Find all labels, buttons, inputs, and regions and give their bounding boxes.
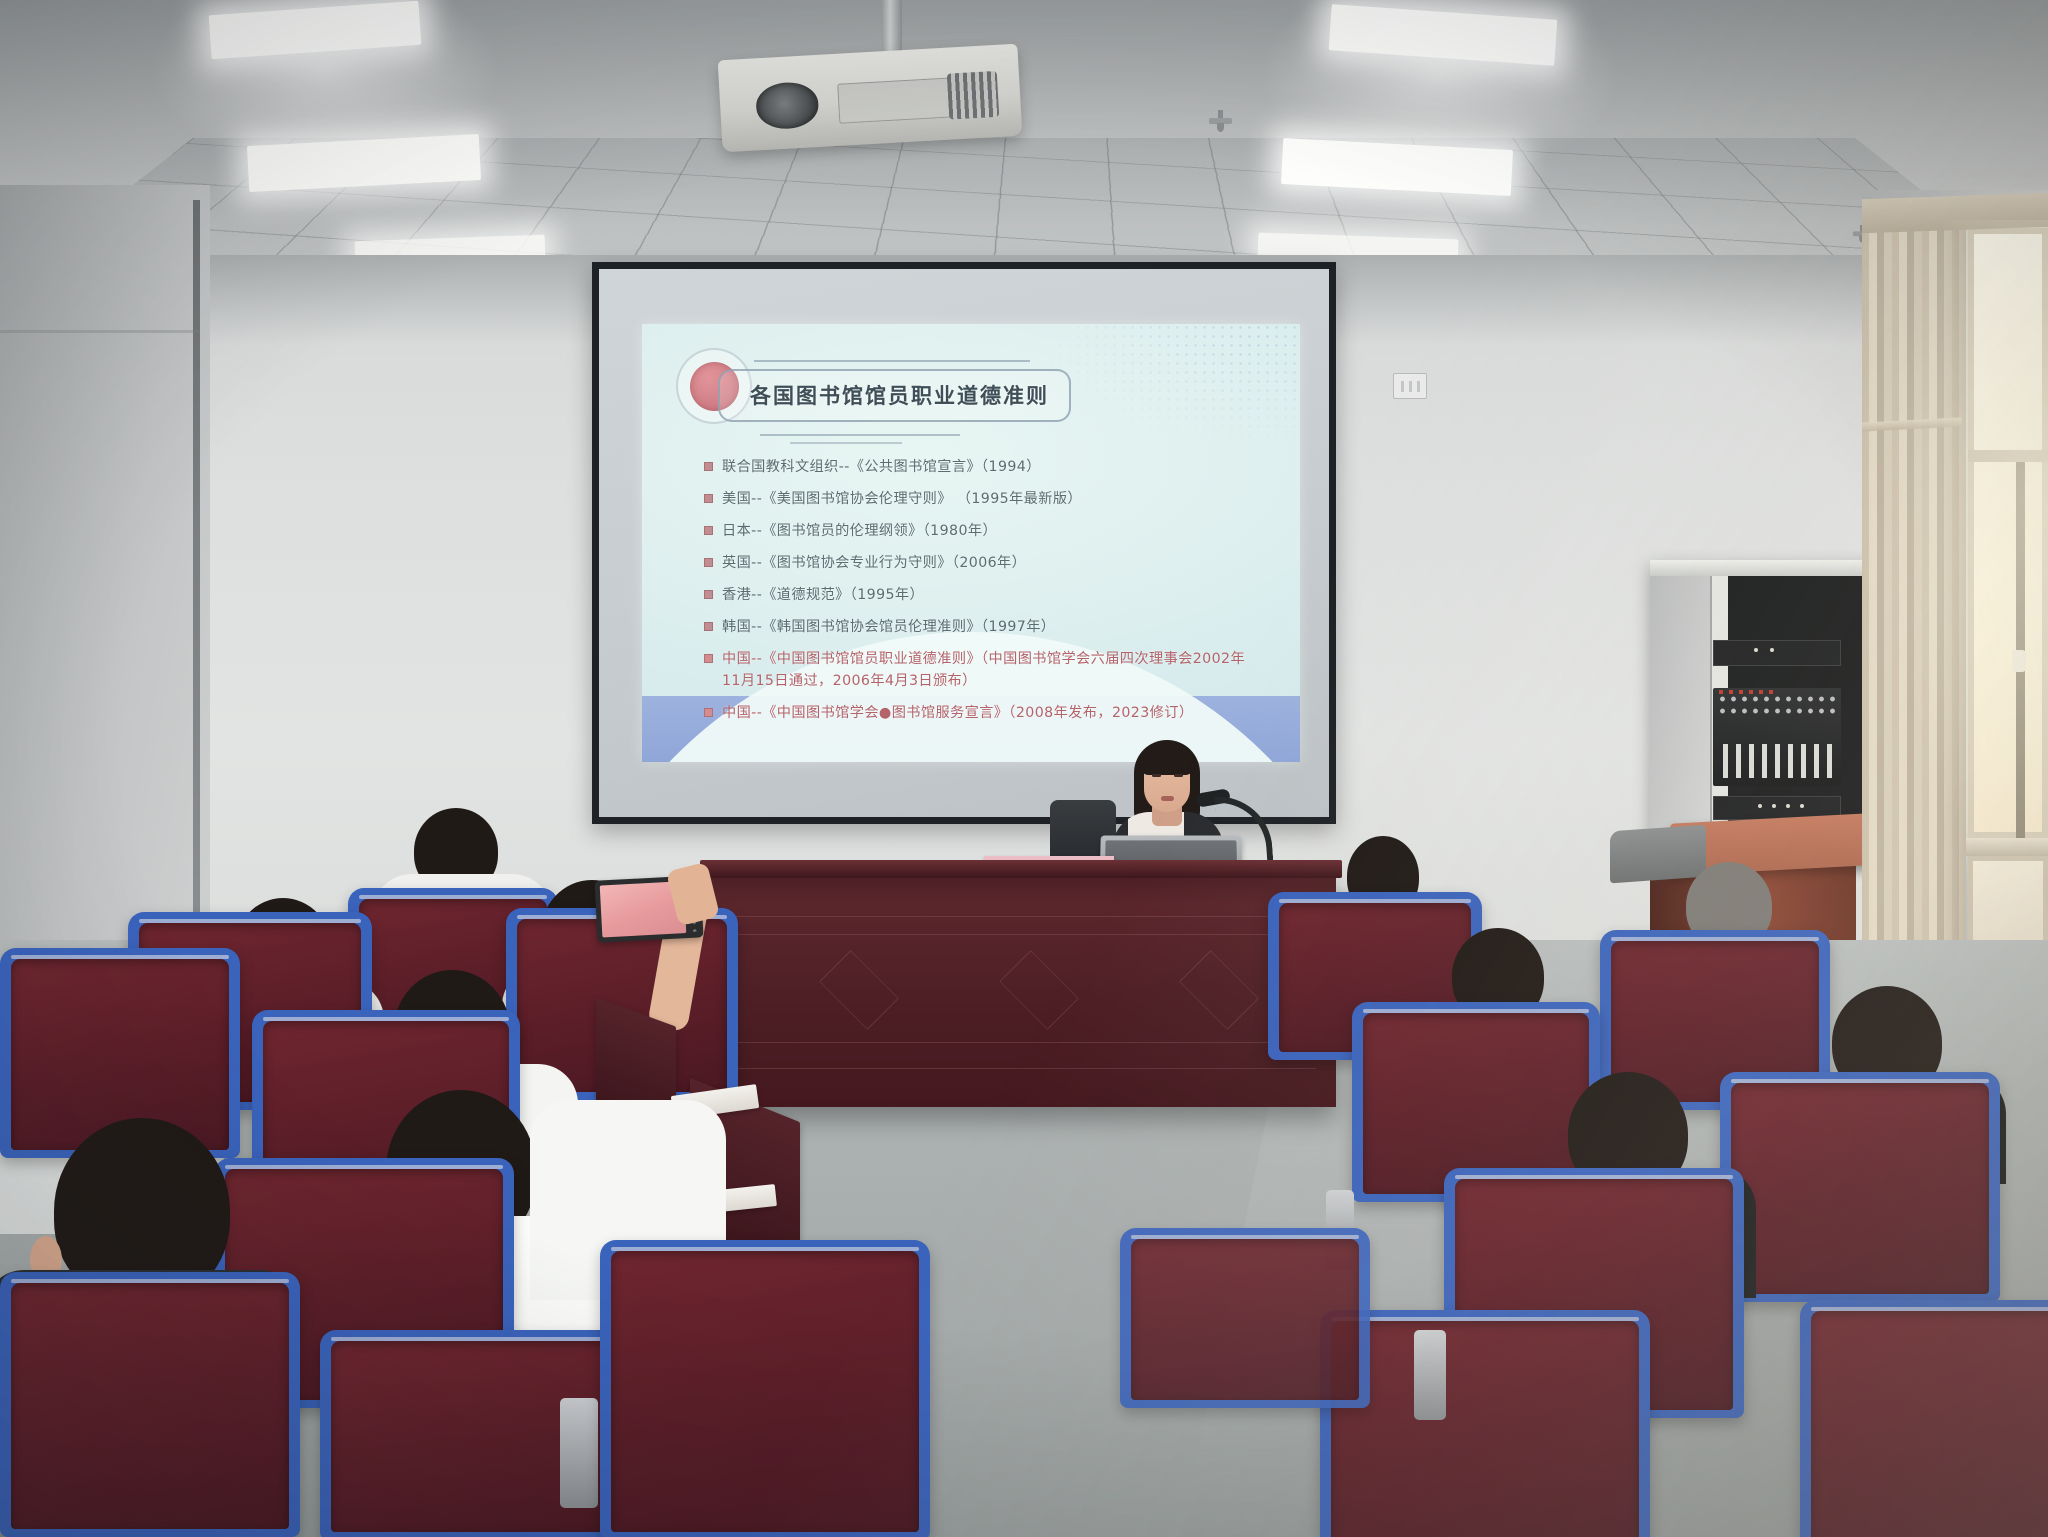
slide-bullet-item: 英国--《图书馆协会专业行为守则》（2006年） bbox=[704, 552, 1274, 574]
left-wall bbox=[0, 185, 210, 1025]
lecture-hall-photo: 各国图书馆馆员职业道德准则 联合国教科文组织--《公共图书馆宣言》（1994） … bbox=[0, 0, 2048, 1537]
audio-mixing-console[interactable] bbox=[1713, 688, 1841, 786]
mixer-knobs[interactable] bbox=[1717, 693, 1837, 717]
head-table-diamond-panel bbox=[819, 950, 898, 1029]
bullet-square-icon bbox=[704, 462, 713, 471]
projector-lens bbox=[755, 81, 819, 130]
wall-power-socket[interactable] bbox=[1393, 373, 1427, 399]
bullet-square-icon bbox=[704, 558, 713, 567]
head-table-diamond-panel bbox=[1179, 950, 1258, 1029]
slide-bullet-item-highlighted: 中国--《中国图书馆学会●图书馆服务宣言》（2008年发布，2023修订） bbox=[704, 702, 1274, 724]
window-mullion-horizontal bbox=[1968, 450, 2048, 462]
slide-bullet-text: 韩国--《韩国图书馆协会馆员伦理准则》（1997年） bbox=[722, 616, 1055, 638]
slide-bullet-item: 韩国--《韩国图书馆协会馆员伦理准则》（1997年） bbox=[704, 616, 1274, 638]
seat-armrest bbox=[560, 1398, 598, 1508]
projector-vent bbox=[947, 71, 999, 120]
slide-bullet-text: 联合国教科文组织--《公共图书馆宣言》（1994） bbox=[722, 456, 1041, 478]
auditorium-seat[interactable] bbox=[1800, 1300, 2048, 1537]
mixer-faders[interactable] bbox=[1719, 744, 1835, 778]
seat-armrest bbox=[1414, 1330, 1446, 1420]
slide-bullet-item: 美国--《美国图书馆协会伦理守则》 （1995年最新版） bbox=[704, 488, 1274, 510]
presenter-mouth bbox=[1161, 796, 1174, 801]
presenter-eye-right bbox=[1174, 774, 1183, 777]
auditorium-seat[interactable] bbox=[600, 1240, 930, 1537]
slide-title-rule-bottom-2 bbox=[790, 442, 902, 444]
slide-bullet-item: 日本--《图书馆员的伦理纲领》（1980年） bbox=[704, 520, 1274, 542]
bullet-square-icon bbox=[704, 708, 713, 717]
projection-screen-surface: 各国图书馆馆员职业道德准则 联合国教科文组织--《公共图书馆宣言》（1994） … bbox=[599, 269, 1329, 817]
head-table-moulding bbox=[726, 1068, 1316, 1069]
slide-bullet-list: 联合国教科文组织--《公共图书馆宣言》（1994） 美国--《美国图书馆协会伦理… bbox=[704, 456, 1274, 734]
ceiling-projector bbox=[718, 44, 1023, 153]
auditorium-seat[interactable] bbox=[0, 1272, 300, 1537]
slide-bullet-item: 联合国教科文组织--《公共图书馆宣言》（1994） bbox=[704, 456, 1274, 478]
slide-bullet-item: 香港--《道德规范》（1995年） bbox=[704, 584, 1274, 606]
projector-control-panel bbox=[837, 77, 959, 124]
slide-bullet-text: 中国--《中国图书馆学会●图书馆服务宣言》（2008年发布，2023修订） bbox=[722, 702, 1193, 724]
left-wall-corner-edge bbox=[193, 200, 200, 1000]
presenter-fringe bbox=[1139, 745, 1195, 775]
slide-title-rule-bottom bbox=[760, 434, 960, 436]
rack-unit-amplifier bbox=[1713, 640, 1841, 666]
auditorium-seat[interactable] bbox=[1720, 1072, 2000, 1302]
attendee bbox=[530, 1060, 700, 1260]
slide-bullet-text: 英国--《图书馆协会专业行为守则》（2006年） bbox=[722, 552, 1026, 574]
window-upper-pane bbox=[1968, 228, 2048, 838]
auditorium-seat[interactable] bbox=[1120, 1228, 1370, 1408]
head-table-moulding bbox=[726, 1042, 1316, 1043]
slide-bullet-text: 日本--《图书馆员的伦理纲领》（1980年） bbox=[722, 520, 997, 542]
bullet-square-icon bbox=[704, 590, 713, 599]
head-table-top-edge bbox=[700, 860, 1342, 878]
slide-bullet-text: 中国--《中国图书馆馆员职业道德准则》（中国图书馆学会六届四次理事会2002年1… bbox=[722, 648, 1262, 692]
wall-seam bbox=[0, 330, 200, 333]
slide-bullet-text: 美国--《美国图书馆协会伦理守则》 （1995年最新版） bbox=[722, 488, 1082, 510]
head-table-diamond-panel bbox=[999, 950, 1078, 1029]
av-rack-top-panel bbox=[1650, 560, 1895, 576]
bullet-square-icon bbox=[704, 622, 713, 631]
head-table-moulding bbox=[726, 934, 1316, 935]
curtain-valance bbox=[1862, 193, 2048, 233]
presenter-head-table bbox=[706, 872, 1336, 1107]
window-sill bbox=[1958, 838, 2048, 856]
head-table-moulding bbox=[726, 916, 1316, 917]
presentation-slide: 各国图书馆馆员职业道德准则 联合国教科文组织--《公共图书馆宣言》（1994） … bbox=[642, 324, 1300, 762]
slide-bullet-text: 香港--《道德规范》（1995年） bbox=[722, 584, 924, 606]
slide-title-rule-top bbox=[754, 360, 1030, 362]
bullet-square-icon bbox=[704, 494, 713, 503]
slide-bullet-item-highlighted: 中国--《中国图书馆馆员职业道德准则》（中国图书馆学会六届四次理事会2002年1… bbox=[704, 648, 1274, 692]
presenter-eye-left bbox=[1152, 774, 1161, 777]
slide-title: 各国图书馆馆员职业道德准则 bbox=[718, 369, 1071, 422]
bullet-square-icon bbox=[704, 654, 713, 663]
window-handle[interactable] bbox=[2012, 650, 2026, 672]
bullet-square-icon bbox=[704, 526, 713, 535]
